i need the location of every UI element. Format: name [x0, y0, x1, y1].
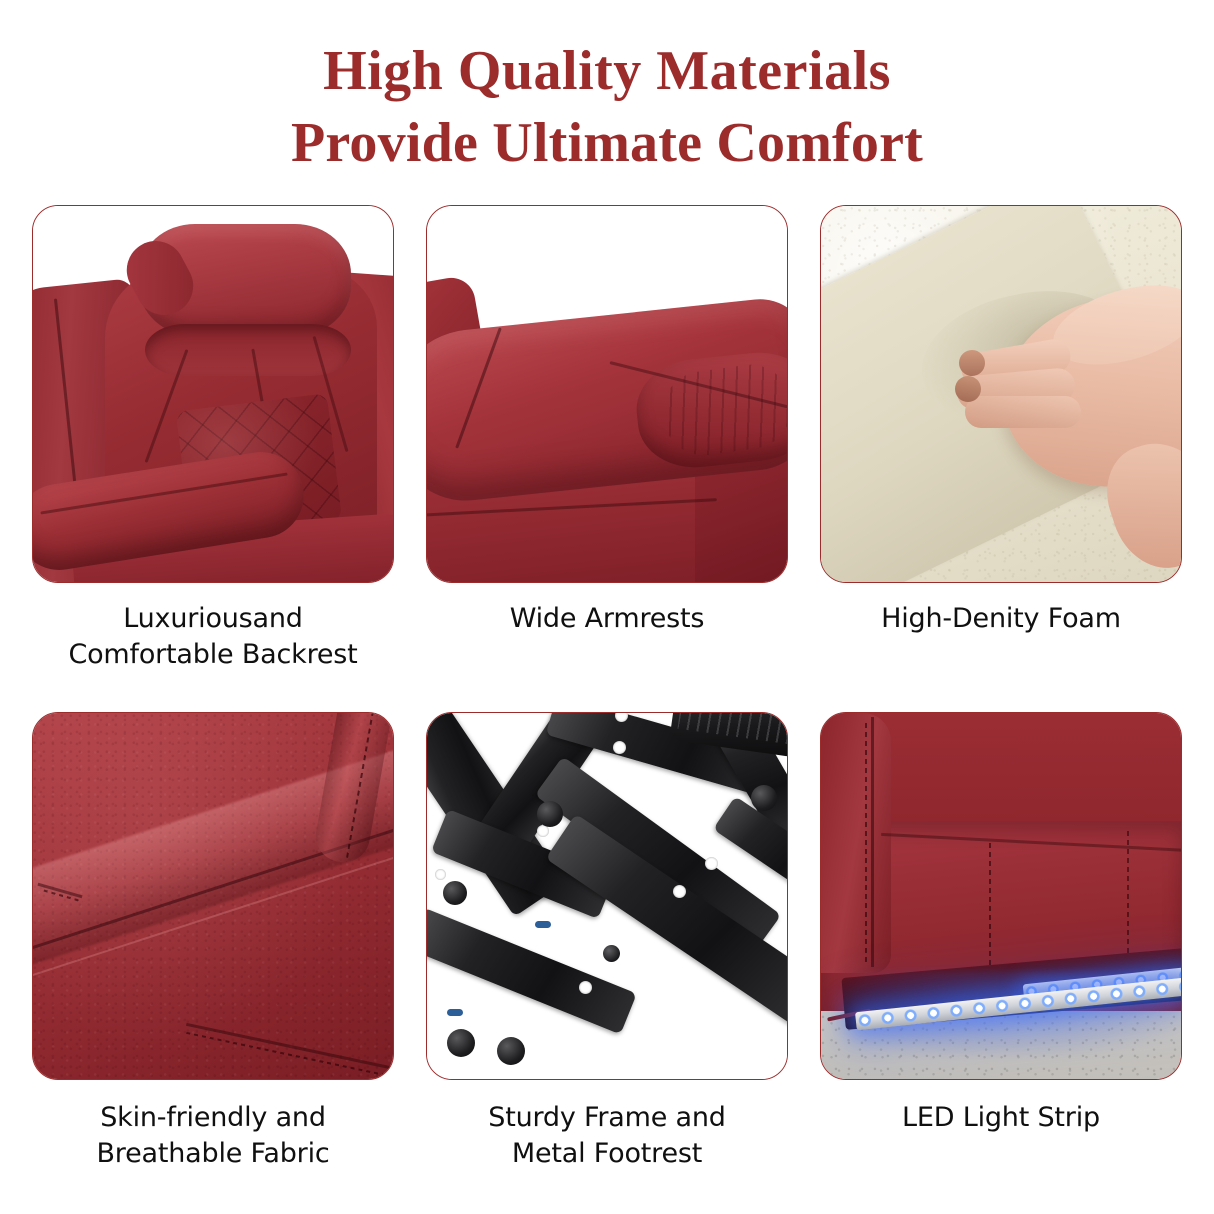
page-title-line-1: High Quality Materials: [0, 36, 1214, 108]
feature-card-armrests: Wide Armrests: [426, 205, 788, 712]
feature-grid: Luxuriousand Comfortable Backrest: [32, 205, 1182, 1180]
armrest-caption: Wide Armrests: [426, 601, 788, 637]
frame-caption: Sturdy Frame and Metal Footrest: [426, 1100, 788, 1172]
armrest-caption-line-1: Wide Armrests: [426, 601, 788, 637]
backrest-caption: Luxuriousand Comfortable Backrest: [32, 601, 394, 673]
led-caption-line-1: LED Light Strip: [820, 1100, 1182, 1136]
fabric-caption-line-2: Breathable Fabric: [32, 1136, 394, 1172]
backrest-image: [32, 205, 394, 583]
feature-card-foam: High-Denity Foam: [820, 205, 1182, 712]
red-leather-wide-armrest-photo: [427, 206, 787, 582]
red-leather-fabric-closeup-photo: [33, 713, 393, 1079]
backrest-caption-line-2: Comfortable Backrest: [32, 637, 394, 673]
fabric-caption: Skin-friendly and Breathable Fabric: [32, 1100, 394, 1172]
feature-card-backrest: Luxuriousand Comfortable Backrest: [32, 205, 394, 712]
fabric-caption-line-1: Skin-friendly and: [32, 1100, 394, 1136]
fabric-image: [32, 712, 394, 1080]
led-caption: LED Light Strip: [820, 1100, 1182, 1136]
armrest-image: [426, 205, 788, 583]
backrest-caption-line-1: Luxuriousand: [32, 601, 394, 637]
feature-card-fabric: Skin-friendly and Breathable Fabric: [32, 712, 394, 1180]
feature-card-frame: Sturdy Frame and Metal Footrest: [426, 712, 788, 1180]
hand-pressing-high-density-foam-photo: [821, 206, 1181, 582]
frame-caption-line-1: Sturdy Frame and: [426, 1100, 788, 1136]
frame-image: [426, 712, 788, 1080]
blue-led-light-strip-under-sofa-photo: [821, 713, 1181, 1079]
black-metal-recliner-frame-footrest-photo: [427, 713, 787, 1079]
infographic-page: High Quality Materials Provide Ultimate …: [0, 0, 1214, 1214]
red-leather-recliner-backrest-photo: [33, 206, 393, 582]
page-title-line-2: Provide Ultimate Comfort: [0, 108, 1214, 180]
page-title: High Quality Materials Provide Ultimate …: [0, 36, 1214, 179]
foam-caption: High-Denity Foam: [820, 601, 1182, 637]
feature-card-led: LED Light Strip: [820, 712, 1182, 1180]
foam-caption-line-1: High-Denity Foam: [820, 601, 1182, 637]
frame-caption-line-2: Metal Footrest: [426, 1136, 788, 1172]
foam-image: [820, 205, 1182, 583]
led-image: [820, 712, 1182, 1080]
